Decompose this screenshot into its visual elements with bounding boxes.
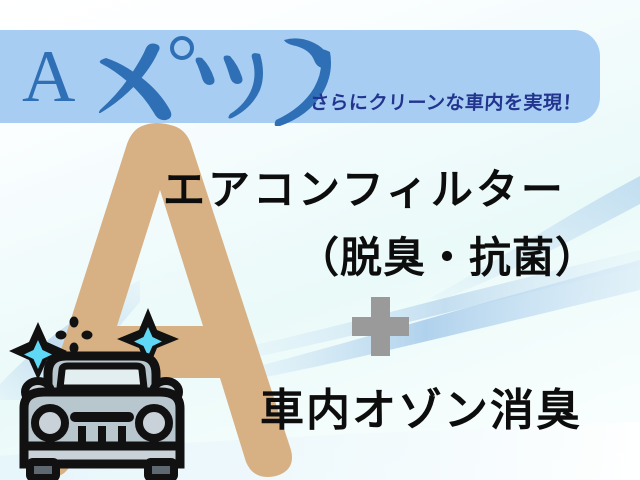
- headline-deodorize-antibacterial: （脱臭・抗菌）: [297, 224, 598, 285]
- banner-tagline: さらにクリーンな車内を実現！: [309, 88, 582, 115]
- headline-ozone-deodorizing: 車内オゾン消臭: [260, 374, 582, 438]
- headline-aircon-filter: エアコンフィルター: [163, 156, 566, 217]
- promo-poster: A さらにクリーン: [0, 0, 640, 480]
- banner-initial-letter: A: [22, 34, 75, 120]
- plus-cross-icon: [352, 297, 409, 356]
- header-banner: A さらにクリーン: [0, 30, 600, 123]
- sparkle-dots-icon: [56, 317, 93, 354]
- car-front-icon: [8, 296, 196, 480]
- banner-brand-katakana: [84, 26, 346, 126]
